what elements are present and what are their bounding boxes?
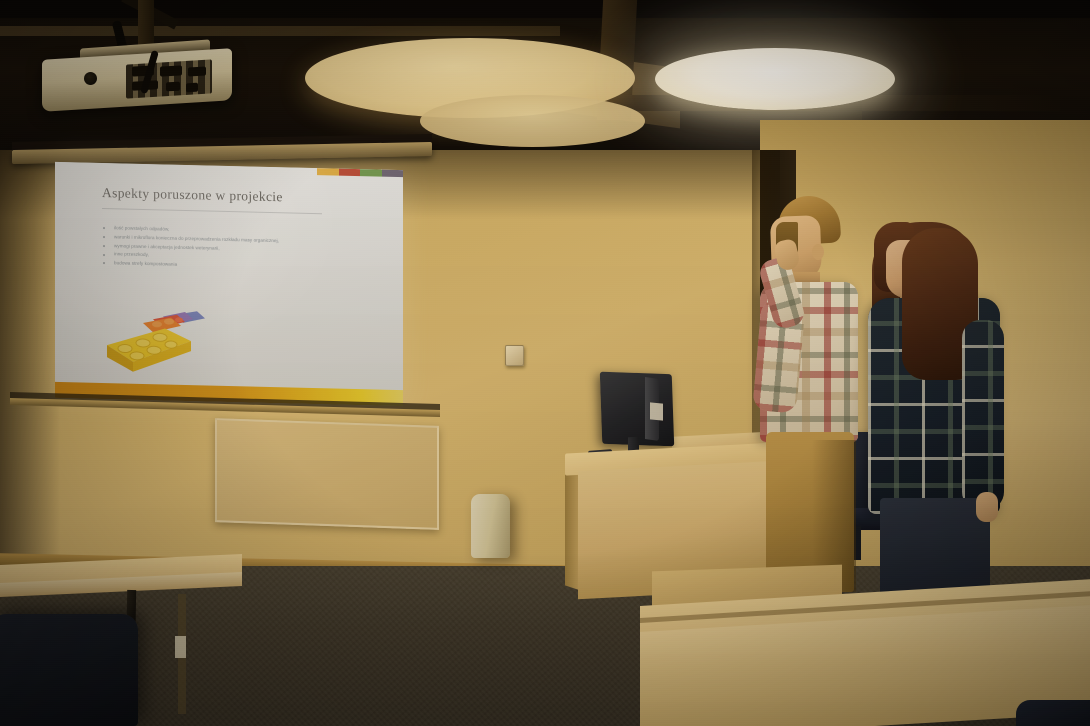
small-beige-disc-light bbox=[420, 95, 645, 147]
computer-monitor[interactable] bbox=[600, 372, 674, 447]
table-inventory-label bbox=[175, 636, 186, 658]
woman-hand bbox=[976, 492, 998, 522]
slide-bar-red bbox=[339, 169, 361, 177]
slide-bar-yellow bbox=[317, 168, 339, 176]
projector-port bbox=[166, 82, 180, 92]
projector-port bbox=[188, 66, 206, 76]
foreground-chair[interactable] bbox=[0, 614, 138, 726]
light-switch[interactable] bbox=[505, 345, 524, 366]
man-ear bbox=[812, 244, 824, 260]
bright-white-disc-light bbox=[655, 48, 895, 110]
slide-bullet-list: ilość powstałych odpadów, warunki i mikr… bbox=[100, 225, 350, 275]
slide-title-divider bbox=[102, 208, 322, 214]
presentation-slide: Aspekty poruszone w projekcie ilość pows… bbox=[55, 162, 403, 406]
whiteboard bbox=[215, 418, 439, 530]
projector-lens-icon bbox=[84, 72, 97, 85]
slide-top-color-bar bbox=[317, 168, 403, 177]
slide-title: Aspekty poruszone w projekcie bbox=[102, 185, 403, 208]
classroom-photo: Aspekty poruszone w projekcie ilość pows… bbox=[0, 0, 1090, 726]
woman-arm bbox=[962, 320, 1004, 510]
wall-shading bbox=[0, 150, 60, 590]
foreground-chair-right[interactable] bbox=[1016, 700, 1090, 726]
waste-bin bbox=[471, 494, 510, 558]
projector-port bbox=[186, 83, 198, 93]
slide-bar-purple bbox=[382, 170, 404, 178]
plaid-pattern bbox=[962, 320, 1004, 510]
monitor-sticker bbox=[650, 402, 663, 420]
slide-bar-green bbox=[360, 169, 382, 177]
lego-bricks-image bbox=[93, 305, 209, 376]
projector-port bbox=[160, 65, 182, 76]
ceiling-rail bbox=[0, 26, 560, 36]
projection-screen: Aspekty poruszone w projekcie ilość pows… bbox=[55, 162, 403, 406]
